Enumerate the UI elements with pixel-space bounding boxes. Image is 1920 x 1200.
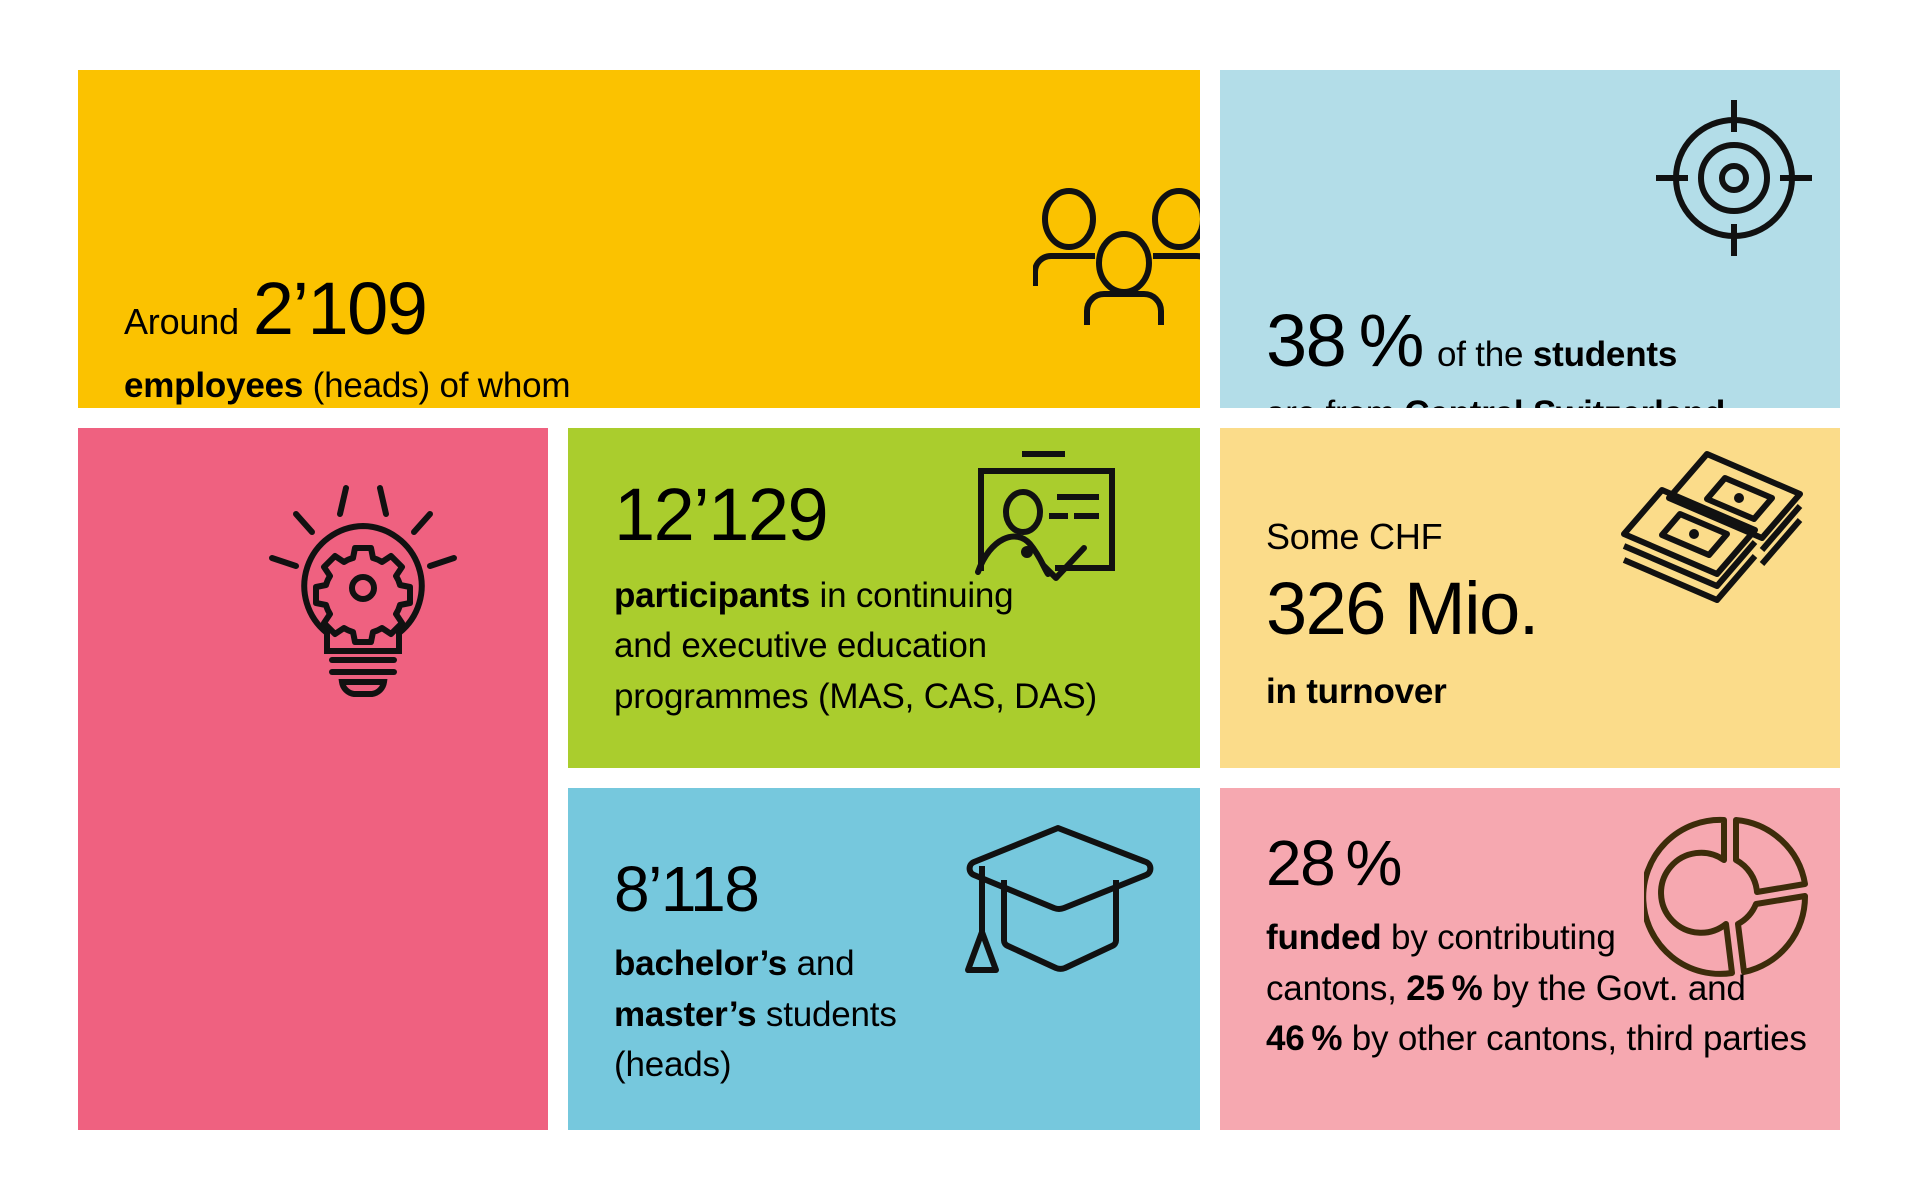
participants-value: 12’129 — [614, 472, 1097, 558]
funding-line-1-bold: funded — [1266, 918, 1381, 957]
funding-line-2: cantons, 25 % by the Govt. and — [1266, 969, 1807, 1010]
participants-line-1: participants in continuing — [614, 576, 1097, 617]
graduation-cap-icon — [960, 820, 1160, 990]
participants-line-2: and executive education — [614, 626, 1097, 667]
card-projects: 251 348 new projects with external partn… — [78, 428, 548, 1130]
employees-prefix: Around — [124, 301, 239, 343]
banknotes-icon — [1612, 442, 1822, 612]
employees-line-1-rest: (heads) of whom — [303, 366, 570, 405]
card-turnover: Some CHF 326 Mio. in turnover — [1220, 428, 1840, 768]
card-funding: 28 % funded by contributing cantons, 25 … — [1220, 788, 1840, 1130]
degrees-line-3: (heads) — [614, 1045, 897, 1086]
degrees-line-1: bachelor’s and — [614, 944, 897, 985]
students-line-2-plain: are from — [1266, 394, 1404, 408]
employees-value: 2’109 — [253, 266, 427, 352]
degrees-line-2-rest: students — [756, 995, 896, 1034]
turnover-value: 326 Mio. — [1266, 566, 1538, 652]
students-line-2: are from Central Switzerland — [1266, 394, 1725, 408]
funding-line-1-rest: by contributing — [1381, 918, 1615, 957]
lightbulb-gear-icon — [258, 470, 468, 700]
card-students: 38 % of the students are from Central Sw… — [1220, 70, 1840, 408]
target-icon — [1654, 98, 1814, 258]
students-suffix-bold: students — [1533, 335, 1677, 374]
employees-line-1-bold: employees — [124, 366, 303, 405]
students-value: 38 % — [1266, 298, 1423, 384]
card-degrees: 8’118 bachelor’s and master’s students (… — [568, 788, 1200, 1130]
turnover-line-1: in turnover — [1266, 672, 1538, 713]
students-line-2-bold: Central Switzerland — [1404, 394, 1725, 408]
people-icon — [1033, 188, 1200, 328]
card-participants: 12’129 participants in continuing and ex… — [568, 428, 1200, 768]
employees-headline: Around 2’109 — [124, 266, 640, 352]
participants-line-1-rest: in continuing — [810, 576, 1013, 615]
card-employees: Around 2’109 employees (heads) of whom 4… — [78, 70, 1200, 408]
funding-line-2-bold: 25 % — [1406, 969, 1482, 1008]
funding-line-3-rest: by other cantons, third parties — [1342, 1019, 1806, 1058]
degrees-line-2-bold: master’s — [614, 995, 756, 1034]
degrees-line-1-rest: and — [787, 944, 854, 983]
turnover-line-1-bold: in turnover — [1266, 672, 1447, 711]
funding-line-3-bold: 46 % — [1266, 1019, 1342, 1058]
employees-line-1: employees (heads) of whom — [124, 366, 640, 407]
turnover-prefix: Some CHF — [1266, 516, 1538, 558]
students-value-suffix: of the students — [1437, 335, 1677, 376]
students-headline: 38 % of the students — [1266, 298, 1725, 384]
funding-value: 28 % — [1266, 826, 1807, 900]
students-suffix-plain: of the — [1437, 335, 1533, 374]
degrees-value: 8’118 — [614, 852, 897, 926]
funding-line-1: funded by contributing — [1266, 918, 1807, 959]
degrees-line-2: master’s students — [614, 995, 897, 1036]
participants-line-3: programmes (MAS, CAS, DAS) — [614, 677, 1097, 718]
funding-line-2-b: by the Govt. and — [1483, 969, 1746, 1008]
infographic-board: Around 2’109 employees (heads) of whom 4… — [0, 0, 1920, 1200]
participants-line-1-bold: participants — [614, 576, 810, 615]
degrees-line-1-bold: bachelor’s — [614, 944, 787, 983]
funding-line-3: 46 % by other cantons, third parties — [1266, 1019, 1807, 1060]
funding-line-2-a: cantons, — [1266, 969, 1406, 1008]
